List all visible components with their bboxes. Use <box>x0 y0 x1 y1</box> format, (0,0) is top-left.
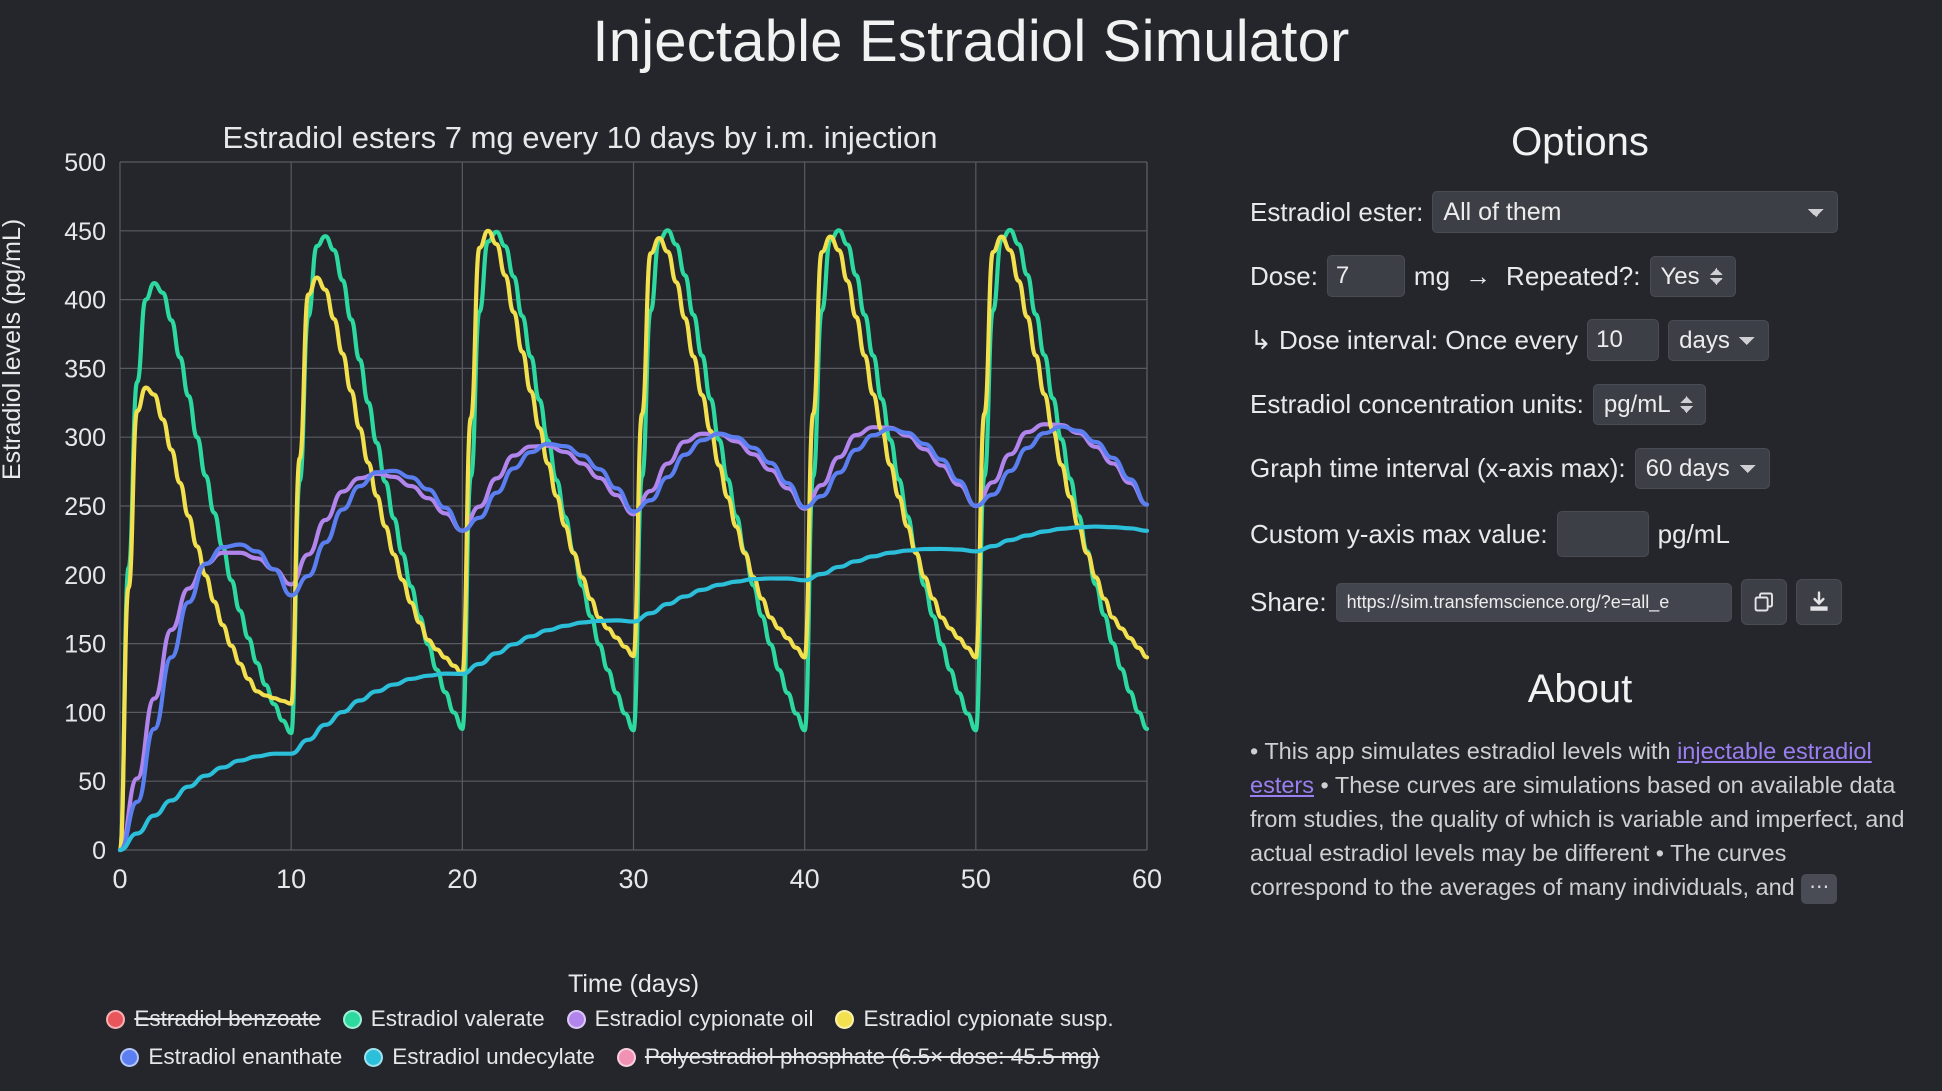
expand-about-button[interactable]: ⋯ <box>1801 874 1837 904</box>
svg-text:500: 500 <box>64 150 106 177</box>
dose-row: Dose: mg → Repeated?: Yes <box>1250 255 1910 297</box>
legend-color-swatch <box>343 1010 362 1029</box>
svg-text:100: 100 <box>64 699 106 727</box>
ymax-label: Custom y-axis max value: <box>1250 519 1548 550</box>
legend-label: Estradiol undecylate <box>392 1044 595 1070</box>
legend-item[interactable]: Estradiol cypionate susp. <box>835 1006 1113 1032</box>
share-url-input[interactable] <box>1336 583 1732 622</box>
svg-text:30: 30 <box>618 864 648 894</box>
legend-row: Estradiol enanthateEstradiol undecylateP… <box>60 1038 1160 1076</box>
legend-color-swatch <box>567 1010 586 1029</box>
download-button[interactable] <box>1796 579 1842 625</box>
about-lead: • This app simulates estradiol levels wi… <box>1250 738 1677 764</box>
plot-area: Estradiol levels (pg/mL) 050100150200250… <box>0 150 1180 955</box>
svg-text:0: 0 <box>92 837 106 865</box>
legend-label: Polyestradiol phosphate (6.5× dose: 45.5… <box>645 1044 1100 1070</box>
legend-color-swatch <box>106 1010 125 1029</box>
chart-panel: Estradiol esters 7 mg every 10 days by i… <box>0 120 1210 1080</box>
svg-text:250: 250 <box>64 493 106 521</box>
legend-label: Estradiol cypionate susp. <box>863 1006 1113 1032</box>
svg-text:350: 350 <box>64 355 106 383</box>
legend-color-swatch <box>364 1048 383 1067</box>
ymax-row: Custom y-axis max value: pg/mL <box>1250 511 1910 557</box>
svg-text:400: 400 <box>64 287 106 315</box>
legend-item[interactable]: Estradiol valerate <box>343 1006 545 1032</box>
concentration-units-select[interactable]: pg/mL <box>1593 384 1706 425</box>
legend-item[interactable]: Estradiol benzoate <box>106 1006 320 1032</box>
chart-legend: Estradiol benzoateEstradiol valerateEstr… <box>60 1000 1160 1076</box>
download-icon <box>1807 590 1831 614</box>
about-text: • This app simulates estradiol levels wi… <box>1250 734 1910 904</box>
x-axis-label: Time (days) <box>120 970 1147 999</box>
ester-row: Estradiol ester: All of them <box>1250 191 1910 233</box>
svg-text:200: 200 <box>64 562 106 590</box>
legend-label: Estradiol valerate <box>371 1006 545 1032</box>
ester-label: Estradiol ester: <box>1250 197 1423 228</box>
legend-row: Estradiol benzoateEstradiol valerateEstr… <box>60 1000 1160 1038</box>
about-heading: About <box>1250 667 1910 712</box>
repeated-label: Repeated?: <box>1506 261 1640 292</box>
svg-text:300: 300 <box>64 424 106 452</box>
legend-color-swatch <box>835 1010 854 1029</box>
graph-time-interval-select[interactable]: 60 days <box>1635 448 1770 489</box>
dose-label: Dose: <box>1250 261 1318 292</box>
options-panel: Options Estradiol ester: All of them Dos… <box>1250 120 1910 904</box>
options-heading: Options <box>1250 120 1910 165</box>
legend-item[interactable]: Polyestradiol phosphate (6.5× dose: 45.5… <box>617 1044 1100 1070</box>
svg-text:50: 50 <box>78 768 106 796</box>
svg-text:150: 150 <box>64 631 106 659</box>
time-interval-label: Graph time interval (x-axis max): <box>1250 453 1626 484</box>
svg-text:50: 50 <box>961 864 991 894</box>
svg-text:0: 0 <box>112 864 127 894</box>
estradiol-curve-svg: 0501001502002503003504004505000102030405… <box>0 150 1180 950</box>
svg-text:450: 450 <box>64 218 106 246</box>
share-label: Share: <box>1250 587 1327 618</box>
legend-label: Estradiol benzoate <box>134 1006 320 1032</box>
time-interval-row: Graph time interval (x-axis max): 60 day… <box>1250 447 1910 489</box>
ymax-unit: pg/mL <box>1658 519 1730 550</box>
y-axis-label: Estradiol levels (pg/mL) <box>0 219 27 480</box>
interval-label: ↳ Dose interval: Once every <box>1250 325 1578 356</box>
units-row: Estradiol concentration units: pg/mL <box>1250 383 1910 425</box>
copy-icon <box>1752 590 1776 614</box>
legend-item[interactable]: Estradiol undecylate <box>364 1044 595 1070</box>
copy-button[interactable] <box>1741 579 1787 625</box>
svg-text:20: 20 <box>447 864 477 894</box>
legend-item[interactable]: Estradiol enanthate <box>120 1044 342 1070</box>
legend-label: Estradiol enanthate <box>148 1044 342 1070</box>
share-row: Share: <box>1250 579 1910 625</box>
dose-input[interactable] <box>1327 255 1405 297</box>
interval-row: ↳ Dose interval: Once every days <box>1250 319 1910 361</box>
legend-item[interactable]: Estradiol cypionate oil <box>567 1006 814 1032</box>
legend-color-swatch <box>120 1048 139 1067</box>
ymax-input[interactable] <box>1557 511 1649 557</box>
dose-unit: mg <box>1414 261 1450 292</box>
interval-input[interactable] <box>1587 319 1659 361</box>
legend-label: Estradiol cypionate oil <box>595 1006 814 1032</box>
legend-color-swatch <box>617 1048 636 1067</box>
page-title: Injectable Estradiol Simulator <box>0 0 1942 73</box>
svg-text:60: 60 <box>1132 864 1162 894</box>
ester-select[interactable]: All of them <box>1432 191 1838 233</box>
svg-text:40: 40 <box>790 864 820 894</box>
units-label: Estradiol concentration units: <box>1250 389 1584 420</box>
interval-unit-select[interactable]: days <box>1668 320 1769 361</box>
svg-text:10: 10 <box>276 864 306 894</box>
repeated-select[interactable]: Yes <box>1650 256 1736 297</box>
arrow-right-icon: → <box>1459 261 1497 292</box>
